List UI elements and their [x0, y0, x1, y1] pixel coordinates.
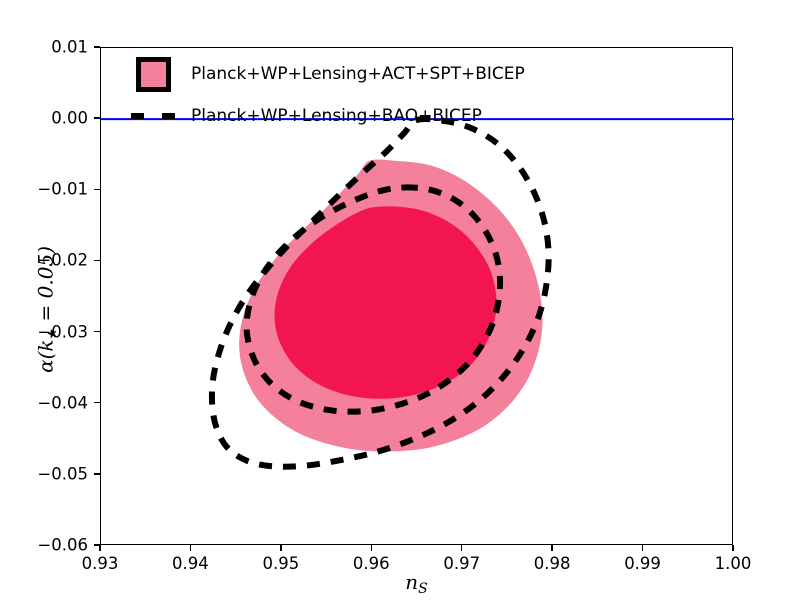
- legend-swatch-key: [129, 57, 177, 92]
- legend-item-0: Planck+WP+Lensing+ACT+SPT+BICEP: [129, 60, 525, 88]
- legend-label-0: Planck+WP+Lensing+ACT+SPT+BICEP: [191, 64, 525, 84]
- legend-item-1: Planck+WP+Lensing+BAO+BICEP: [129, 102, 525, 130]
- legend-dash-key: [129, 113, 177, 119]
- plot-axes: Planck+WP+Lensing+ACT+SPT+BICEP Planck+W…: [100, 47, 733, 545]
- y-tick-label: 0.01: [0, 38, 88, 57]
- legend: Planck+WP+Lensing+ACT+SPT+BICEP Planck+W…: [129, 60, 525, 130]
- y-tick-label: −0.05: [0, 464, 88, 483]
- figure-canvas: 0.010.00−0.01−0.02−0.03−0.04−0.05−0.06 0…: [0, 0, 812, 612]
- y-tick-label: −0.06: [0, 536, 88, 555]
- y-tick-label: 0.00: [0, 109, 88, 128]
- x-axis-label: nS: [100, 570, 733, 597]
- y-axis-label: α(k★ = 0.05): [34, 174, 61, 444]
- dashed-line-icon: [131, 113, 175, 119]
- legend-label-1: Planck+WP+Lensing+BAO+BICEP: [191, 106, 482, 126]
- filled-patch-icon: [136, 57, 171, 92]
